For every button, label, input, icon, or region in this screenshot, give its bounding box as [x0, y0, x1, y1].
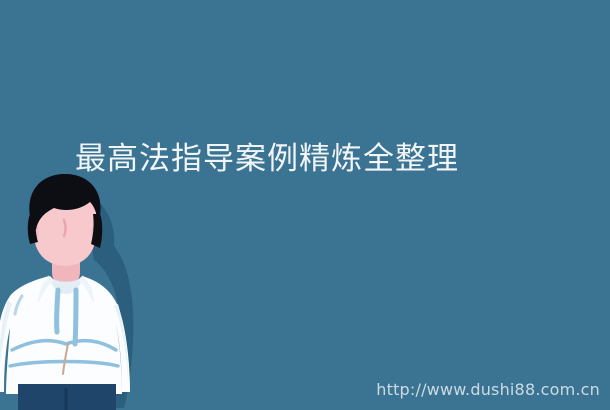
watermark-url: http://www.dushi88.com.cn	[376, 380, 600, 400]
page-title: 最高法指导案例精炼全整理	[0, 139, 610, 179]
poster-canvas: 最高法指导案例精炼全整理 http://www.dushi88.com.cn	[0, 0, 610, 410]
drawstring-right	[75, 290, 76, 344]
drawstring-left	[57, 290, 58, 332]
illustration-young-man-in-white-hoodie	[0, 172, 144, 410]
